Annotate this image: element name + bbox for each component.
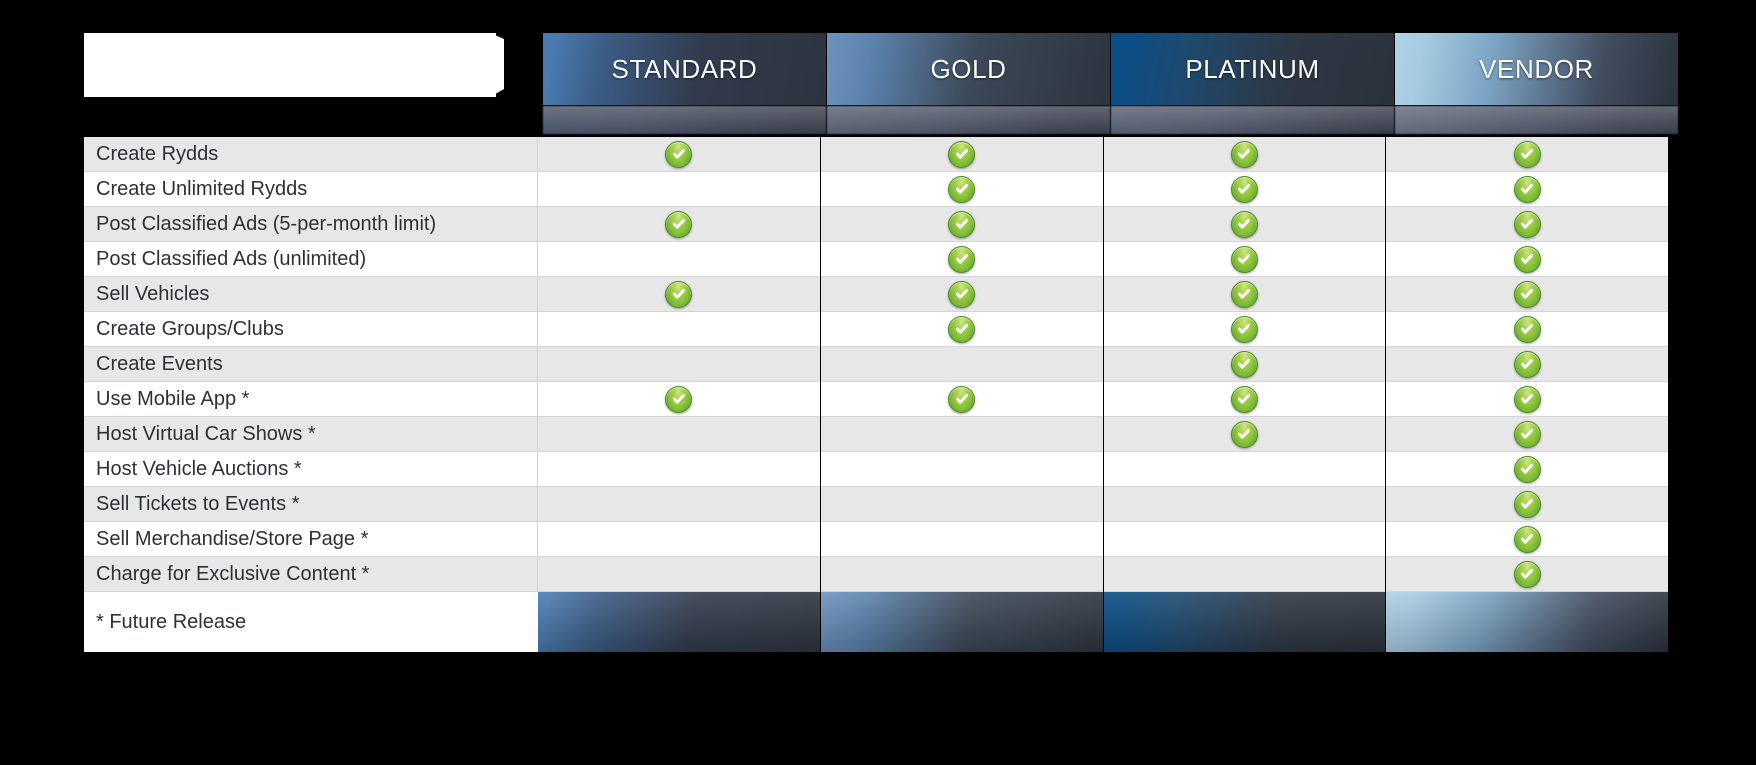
cell-vendor xyxy=(1386,242,1668,277)
green-check-circle-icon xyxy=(1231,141,1258,168)
feature-label: Host Virtual Car Shows * xyxy=(84,417,538,452)
green-check-circle-icon xyxy=(1514,386,1541,413)
feature-label: Charge for Exclusive Content * xyxy=(84,557,538,592)
footer-block-gold xyxy=(821,592,1103,652)
footer-row: * Future Release xyxy=(84,592,1668,652)
table-row: Post Classified Ads (5-per-month limit) xyxy=(84,207,1668,242)
cell-standard xyxy=(538,417,820,452)
cell-platinum xyxy=(1104,452,1386,487)
green-check-circle-icon xyxy=(1231,421,1258,448)
cell-platinum xyxy=(1104,417,1386,452)
table-row: Sell Tickets to Events * xyxy=(84,487,1668,522)
feature-label: Sell Vehicles xyxy=(84,277,538,312)
green-check-circle-icon xyxy=(665,141,692,168)
table-row: Create Groups/Clubs xyxy=(84,312,1668,347)
brand-logo-box xyxy=(84,33,496,97)
green-check-circle-icon xyxy=(1231,176,1258,203)
cell-vendor xyxy=(1386,382,1668,417)
feature-label: Create Unlimited Rydds xyxy=(84,172,538,207)
cell-standard xyxy=(538,557,820,592)
plan-header-standard[interactable]: STANDARD xyxy=(543,33,826,105)
cell-vendor xyxy=(1386,277,1668,312)
cell-platinum xyxy=(1104,557,1386,592)
green-check-circle-icon xyxy=(1514,491,1541,518)
cell-gold xyxy=(821,487,1103,522)
green-check-circle-icon xyxy=(1514,176,1541,203)
feature-label: Use Mobile App * xyxy=(84,382,538,417)
future-release-note: * Future Release xyxy=(84,592,538,652)
green-check-circle-icon xyxy=(665,281,692,308)
cell-gold xyxy=(821,382,1103,417)
cell-vendor xyxy=(1386,312,1668,347)
cell-standard xyxy=(538,312,820,347)
cell-vendor xyxy=(1386,417,1668,452)
green-check-circle-icon xyxy=(1231,281,1258,308)
green-check-circle-icon xyxy=(948,281,975,308)
cell-gold xyxy=(821,172,1103,207)
cell-vendor xyxy=(1386,347,1668,382)
cell-gold xyxy=(821,522,1103,557)
cell-platinum xyxy=(1104,137,1386,172)
cell-standard xyxy=(538,382,820,417)
cell-standard xyxy=(538,137,820,172)
cell-standard xyxy=(538,242,820,277)
cell-vendor xyxy=(1386,522,1668,557)
cell-vendor xyxy=(1386,487,1668,522)
plan-header-platinum-label: PLATINUM xyxy=(1111,33,1394,105)
green-check-circle-icon xyxy=(1514,316,1541,343)
plan-header-gold-label: GOLD xyxy=(827,33,1110,105)
cell-platinum xyxy=(1104,277,1386,312)
cell-standard xyxy=(538,207,820,242)
cell-gold xyxy=(821,207,1103,242)
plan-header-platinum[interactable]: PLATINUM xyxy=(1111,33,1394,105)
cell-platinum xyxy=(1104,522,1386,557)
plan-header-standard-label: STANDARD xyxy=(543,33,826,105)
green-check-circle-icon xyxy=(665,211,692,238)
plan-header-standard-reflection xyxy=(543,106,826,134)
cell-platinum xyxy=(1104,172,1386,207)
feature-label: Create Rydds xyxy=(84,137,538,172)
feature-comparison-page: STANDARD GOLD PLATINUM VENDOR Create Ryd… xyxy=(0,0,1756,765)
plan-header-platinum-reflection xyxy=(1111,106,1394,134)
cell-platinum xyxy=(1104,347,1386,382)
cell-platinum xyxy=(1104,487,1386,522)
cell-gold xyxy=(821,417,1103,452)
footer-block-vendor xyxy=(1386,592,1668,652)
table-row: Create Unlimited Rydds xyxy=(84,172,1668,207)
cell-gold xyxy=(821,242,1103,277)
cell-gold xyxy=(821,557,1103,592)
cell-standard xyxy=(538,347,820,382)
cell-standard xyxy=(538,172,820,207)
table-row: Create Events xyxy=(84,347,1668,382)
cell-vendor xyxy=(1386,172,1668,207)
feature-label: Create Groups/Clubs xyxy=(84,312,538,347)
green-check-circle-icon xyxy=(1231,211,1258,238)
cell-standard xyxy=(538,452,820,487)
feature-label: Sell Merchandise/Store Page * xyxy=(84,522,538,557)
plan-header-vendor[interactable]: VENDOR xyxy=(1395,33,1678,105)
table-row: Sell Merchandise/Store Page * xyxy=(84,522,1668,557)
cell-vendor xyxy=(1386,452,1668,487)
green-check-circle-icon xyxy=(1514,211,1541,238)
cell-platinum xyxy=(1104,207,1386,242)
plan-header-vendor-label: VENDOR xyxy=(1395,33,1678,105)
plan-header-vendor-reflection xyxy=(1395,106,1678,134)
feature-label: Post Classified Ads (unlimited) xyxy=(84,242,538,277)
green-check-circle-icon xyxy=(665,386,692,413)
plan-header-gold-reflection xyxy=(827,106,1110,134)
green-check-circle-icon xyxy=(948,386,975,413)
feature-label: Sell Tickets to Events * xyxy=(84,487,538,522)
green-check-circle-icon xyxy=(1231,246,1258,273)
table-row: Post Classified Ads (unlimited) xyxy=(84,242,1668,277)
table-row: Host Virtual Car Shows * xyxy=(84,417,1668,452)
footer-block-platinum xyxy=(1104,592,1386,652)
cell-standard xyxy=(538,522,820,557)
footer-block-standard xyxy=(538,592,820,652)
green-check-circle-icon xyxy=(1514,246,1541,273)
plan-header-gold[interactable]: GOLD xyxy=(827,33,1110,105)
cell-gold xyxy=(821,452,1103,487)
green-check-circle-icon xyxy=(948,316,975,343)
green-check-circle-icon xyxy=(948,246,975,273)
green-check-circle-icon xyxy=(948,141,975,168)
green-check-circle-icon xyxy=(1514,421,1541,448)
green-check-circle-icon xyxy=(1514,281,1541,308)
table-row: Create Rydds xyxy=(84,137,1668,172)
cell-platinum xyxy=(1104,242,1386,277)
green-check-circle-icon xyxy=(948,211,975,238)
cell-standard xyxy=(538,277,820,312)
cell-gold xyxy=(821,312,1103,347)
table-row: Use Mobile App * xyxy=(84,382,1668,417)
green-check-circle-icon xyxy=(1514,561,1541,588)
table-row: Sell Vehicles xyxy=(84,277,1668,312)
table-row: Charge for Exclusive Content * xyxy=(84,557,1668,592)
green-check-circle-icon xyxy=(1514,351,1541,378)
feature-label: Create Events xyxy=(84,347,538,382)
cell-standard xyxy=(538,487,820,522)
green-check-circle-icon xyxy=(1231,351,1258,378)
green-check-circle-icon xyxy=(1514,141,1541,168)
table-row: Host Vehicle Auctions * xyxy=(84,452,1668,487)
cell-platinum xyxy=(1104,312,1386,347)
cell-platinum xyxy=(1104,382,1386,417)
green-check-circle-icon xyxy=(1514,456,1541,483)
cell-gold xyxy=(821,347,1103,382)
feature-matrix: Create RyddsCreate Unlimited RyddsPost C… xyxy=(84,137,1668,592)
green-check-circle-icon xyxy=(1231,316,1258,343)
green-check-circle-icon xyxy=(1514,526,1541,553)
green-check-circle-icon xyxy=(1231,386,1258,413)
cell-vendor xyxy=(1386,207,1668,242)
cell-gold xyxy=(821,137,1103,172)
cell-gold xyxy=(821,277,1103,312)
cell-vendor xyxy=(1386,137,1668,172)
plan-header-row: STANDARD GOLD PLATINUM VENDOR xyxy=(543,33,1679,105)
green-check-circle-icon xyxy=(948,176,975,203)
feature-label: Post Classified Ads (5-per-month limit) xyxy=(84,207,538,242)
feature-label: Host Vehicle Auctions * xyxy=(84,452,538,487)
cell-vendor xyxy=(1386,557,1668,592)
